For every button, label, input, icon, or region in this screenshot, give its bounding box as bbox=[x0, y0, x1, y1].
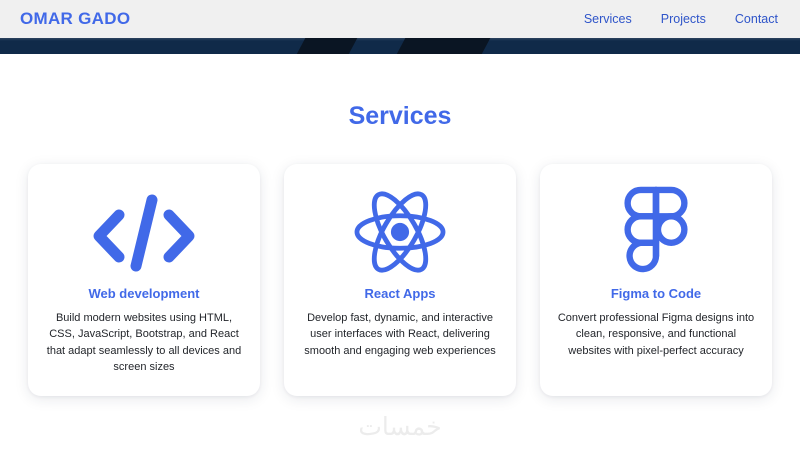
watermark: خمسات bbox=[0, 412, 800, 442]
service-card-title: Figma to Code bbox=[611, 286, 701, 301]
hero-strip bbox=[0, 38, 800, 54]
code-brackets-icon bbox=[89, 186, 199, 278]
service-card-title: Web development bbox=[88, 286, 199, 301]
service-card-react-apps[interactable]: React Apps Develop fast, dynamic, and in… bbox=[284, 164, 516, 396]
nav-link-services[interactable]: Services bbox=[584, 12, 632, 26]
service-card-text: Convert professional Figma designs into … bbox=[556, 310, 756, 359]
services-section: Services Web development Build modern we… bbox=[0, 54, 800, 396]
navbar: OMAR GADO Services Projects Contact bbox=[0, 0, 800, 38]
hero-sheen bbox=[0, 38, 800, 41]
hero-diagonal-streak-right bbox=[389, 38, 495, 54]
service-cards-row: Web development Build modern websites us… bbox=[0, 164, 800, 396]
page-title: Services bbox=[0, 102, 800, 131]
service-card-figma-to-code[interactable]: Figma to Code Convert professional Figma… bbox=[540, 164, 772, 396]
nav-link-contact[interactable]: Contact bbox=[735, 12, 778, 26]
service-card-web-development[interactable]: Web development Build modern websites us… bbox=[28, 164, 260, 396]
nav-link-projects[interactable]: Projects bbox=[661, 12, 706, 26]
nav-links: Services Projects Contact bbox=[584, 12, 778, 26]
service-card-text: Build modern websites using HTML, CSS, J… bbox=[44, 310, 244, 375]
figma-logo-icon bbox=[623, 186, 689, 278]
react-atom-icon bbox=[352, 186, 448, 278]
service-card-text: Develop fast, dynamic, and interactive u… bbox=[300, 310, 500, 359]
brand-logo[interactable]: OMAR GADO bbox=[20, 9, 130, 29]
service-card-title: React Apps bbox=[364, 286, 435, 301]
